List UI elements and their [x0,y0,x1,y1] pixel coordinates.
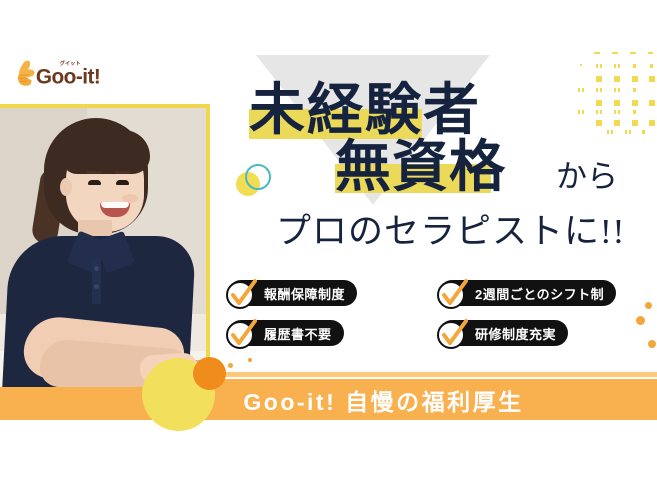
feature-pill-2-label: 2週間ごとのシフト制 [475,284,604,303]
logo-wordmark: Goo-it! [36,65,101,88]
check-circle-icon [434,316,468,350]
feature-pill-3-label: 履歴書不要 [264,324,332,343]
feature-pill-4[interactable]: 研修制度充実 [439,320,568,346]
check-circle-icon [223,276,257,310]
goo-it-logo[interactable]: グイット Goo-it! [14,52,118,96]
feature-pill-3[interactable]: 履歴書不要 [228,320,344,346]
headline-line-3: プロのセラピストに!! [276,214,625,249]
headline-line-2: 無資格 [335,140,506,196]
headline-line-2-suffix: から [556,161,618,192]
orange-dot-decoration [648,340,656,348]
orange-dot-decoration [636,316,645,325]
feature-pill-2[interactable]: 2週間ごとのシフト制 [439,280,616,306]
orange-dot-decoration [645,302,652,309]
teal-ring-decoration [245,164,271,190]
headline-line-1: 未経験者 [249,83,481,139]
feature-pill-4-label: 研修制度充実 [475,324,556,343]
dot-grid-decoration [576,50,657,138]
therapist-photo [0,108,206,387]
recruitment-banner: グイット Goo-it! 未経験者 無資格 から プロのセラピストに!! 報酬保… [0,0,657,484]
orange-dot-decoration [248,358,252,362]
check-circle-icon [434,276,468,310]
orange-dot-decoration [228,363,233,368]
benefits-banner-text: Goo-it! 自慢の福利厚生 [0,379,657,420]
feature-pill-1-label: 報酬保障制度 [264,284,345,303]
feature-pill-1[interactable]: 報酬保障制度 [228,280,357,306]
thumbs-up-icon [18,60,35,85]
check-circle-icon [223,316,257,350]
